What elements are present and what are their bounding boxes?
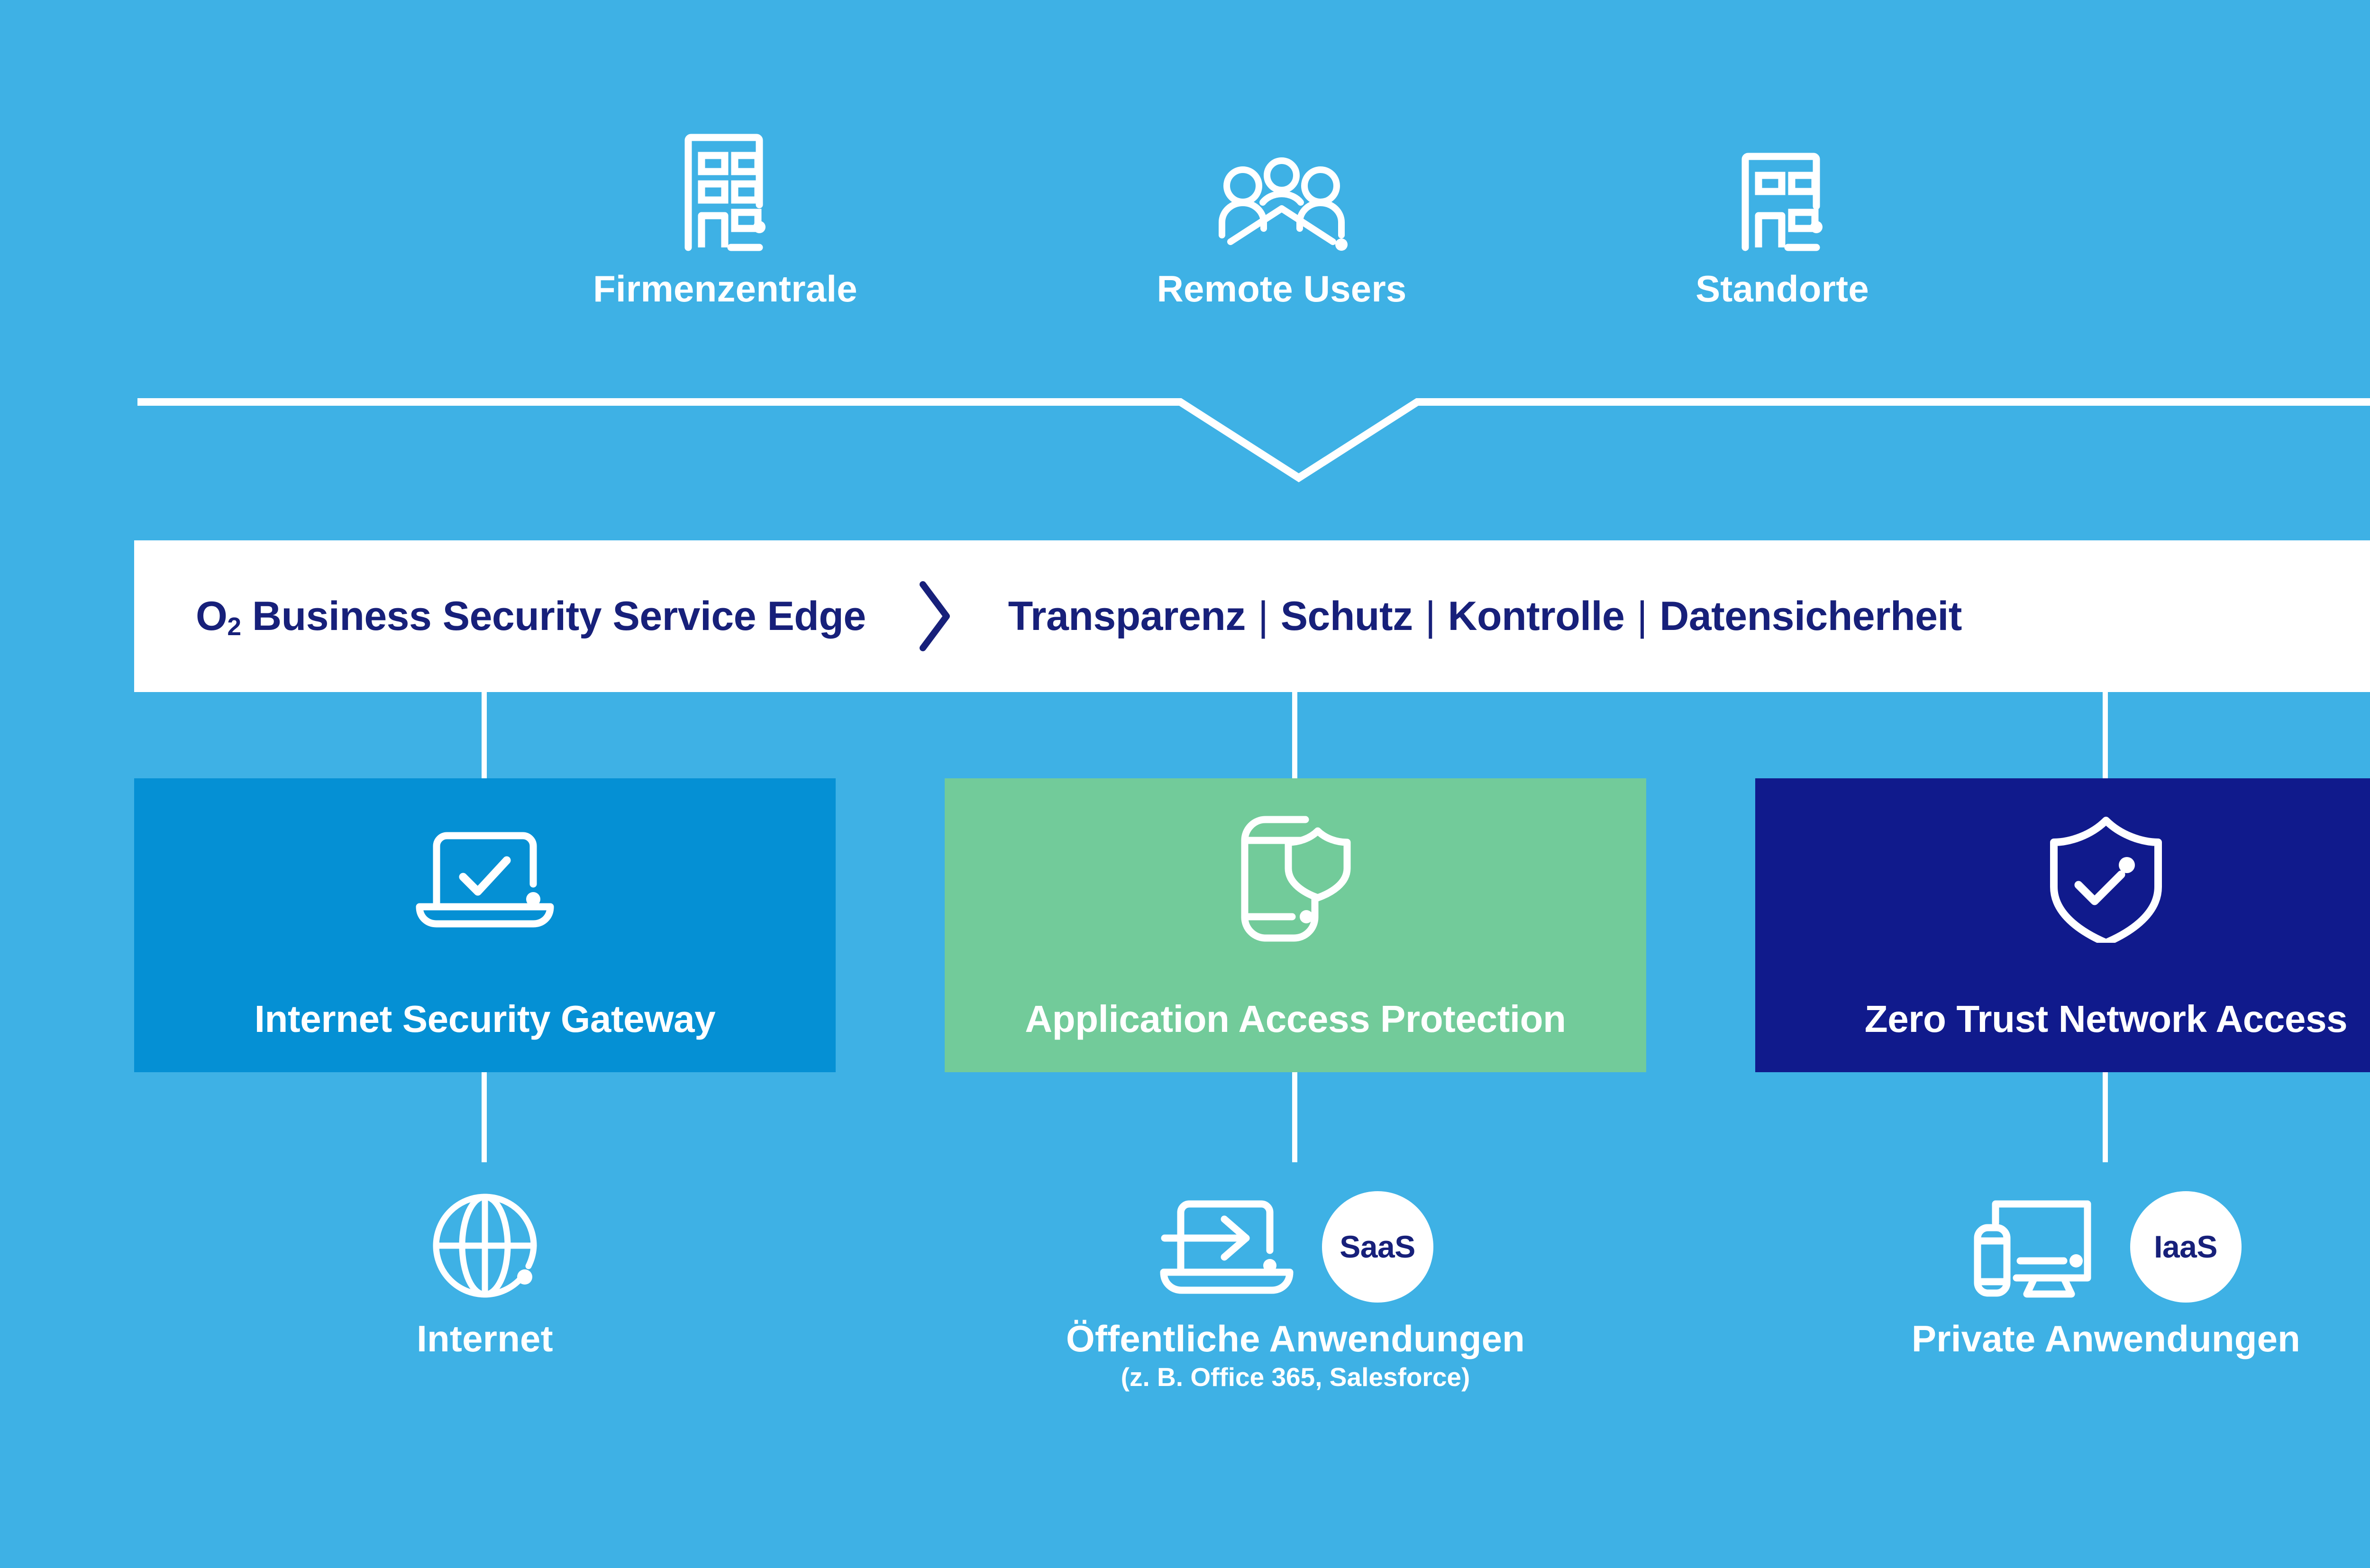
destination-icon-row: IaaS [1755,1176,2370,1318]
chevron-right-icon [918,581,951,652]
badge-iaas: IaaS [2130,1191,2242,1303]
people-group-icon [1068,109,1495,251]
connector-ztna-to-iaas [2103,1072,2108,1162]
destination-public-apps: SaaS Öffentliche Anwendungen (z. B. Offi… [945,1176,1646,1392]
card-title: Internet Security Gateway [134,997,836,1041]
destination-private-apps: IaaS Private Anwendungen [1755,1176,2370,1360]
card-title: Zero Trust Network Access [1755,997,2370,1041]
connector-banner-to-aap [1292,692,1297,780]
source-label: Remote Users [1068,267,1495,310]
destination-icon-row [134,1176,836,1318]
connector-isg-to-internet [482,1072,487,1162]
destination-sublabel: (z. B. Office 365, Salesforce) [945,1362,1646,1392]
benefit-list: Transparenz|Schutz|Kontrolle|Datensicher… [1008,593,1962,640]
destination-label: Internet [134,1318,836,1360]
benefit-separator: | [1624,593,1659,640]
product-name-prefix: O [196,593,227,639]
benefit-kontrolle: Kontrolle [1448,593,1624,639]
desktop-mobile-icon [1971,1194,2104,1300]
shield-check-icon [2049,822,2163,936]
benefit-separator: | [1413,593,1448,640]
source-label: Firmenzentrale [512,267,939,310]
destination-internet: Internet [134,1176,836,1360]
product-name: O2 Business Security Service Edge [196,593,866,640]
source-standorte: Standorte [1569,109,1996,310]
destination-label: Öffentliche Anwendungen [945,1318,1646,1360]
benefit-datensicherheit: Datensicherheit [1659,593,1962,639]
card-zero-trust-network-access[interactable]: Zero Trust Network Access [1755,778,2370,1072]
source-remote-users: Remote Users [1068,109,1495,310]
laptop-arrow-in-icon [1158,1194,1295,1299]
sase-banner: O2 Business Security Service Edge Transp… [134,540,2370,692]
product-name-rest: Business Security Service Edge [241,593,866,639]
branch-building-icon [1569,109,1996,251]
card-application-access-protection[interactable]: Application Access Protection [945,778,1646,1072]
laptop-check-icon [414,822,556,936]
benefit-transparenz: Transparenz [1008,593,1246,639]
globe-icon [430,1191,539,1303]
destination-icon-row: SaaS [945,1176,1646,1318]
connector-banner-to-ztna [2103,692,2108,780]
connector-banner-to-isg [482,692,487,780]
connector-aap-to-saas [1292,1072,1297,1162]
bus-connector-line [137,398,2370,488]
sase-architecture-diagram: Firmenzentrale Remote Users [0,0,2370,1568]
product-name-subscript: 2 [227,613,241,641]
badge-saas: SaaS [1322,1191,1433,1303]
mobile-shield-icon [1236,822,1355,936]
office-building-icon [512,109,939,251]
card-title: Application Access Protection [945,997,1646,1041]
destination-label: Private Anwendungen [1755,1318,2370,1360]
benefit-schutz: Schutz [1281,593,1413,639]
benefit-separator: | [1246,593,1281,640]
source-label: Standorte [1569,267,1996,310]
source-firmenzentrale: Firmenzentrale [512,109,939,310]
card-internet-security-gateway[interactable]: Internet Security Gateway [134,778,836,1072]
